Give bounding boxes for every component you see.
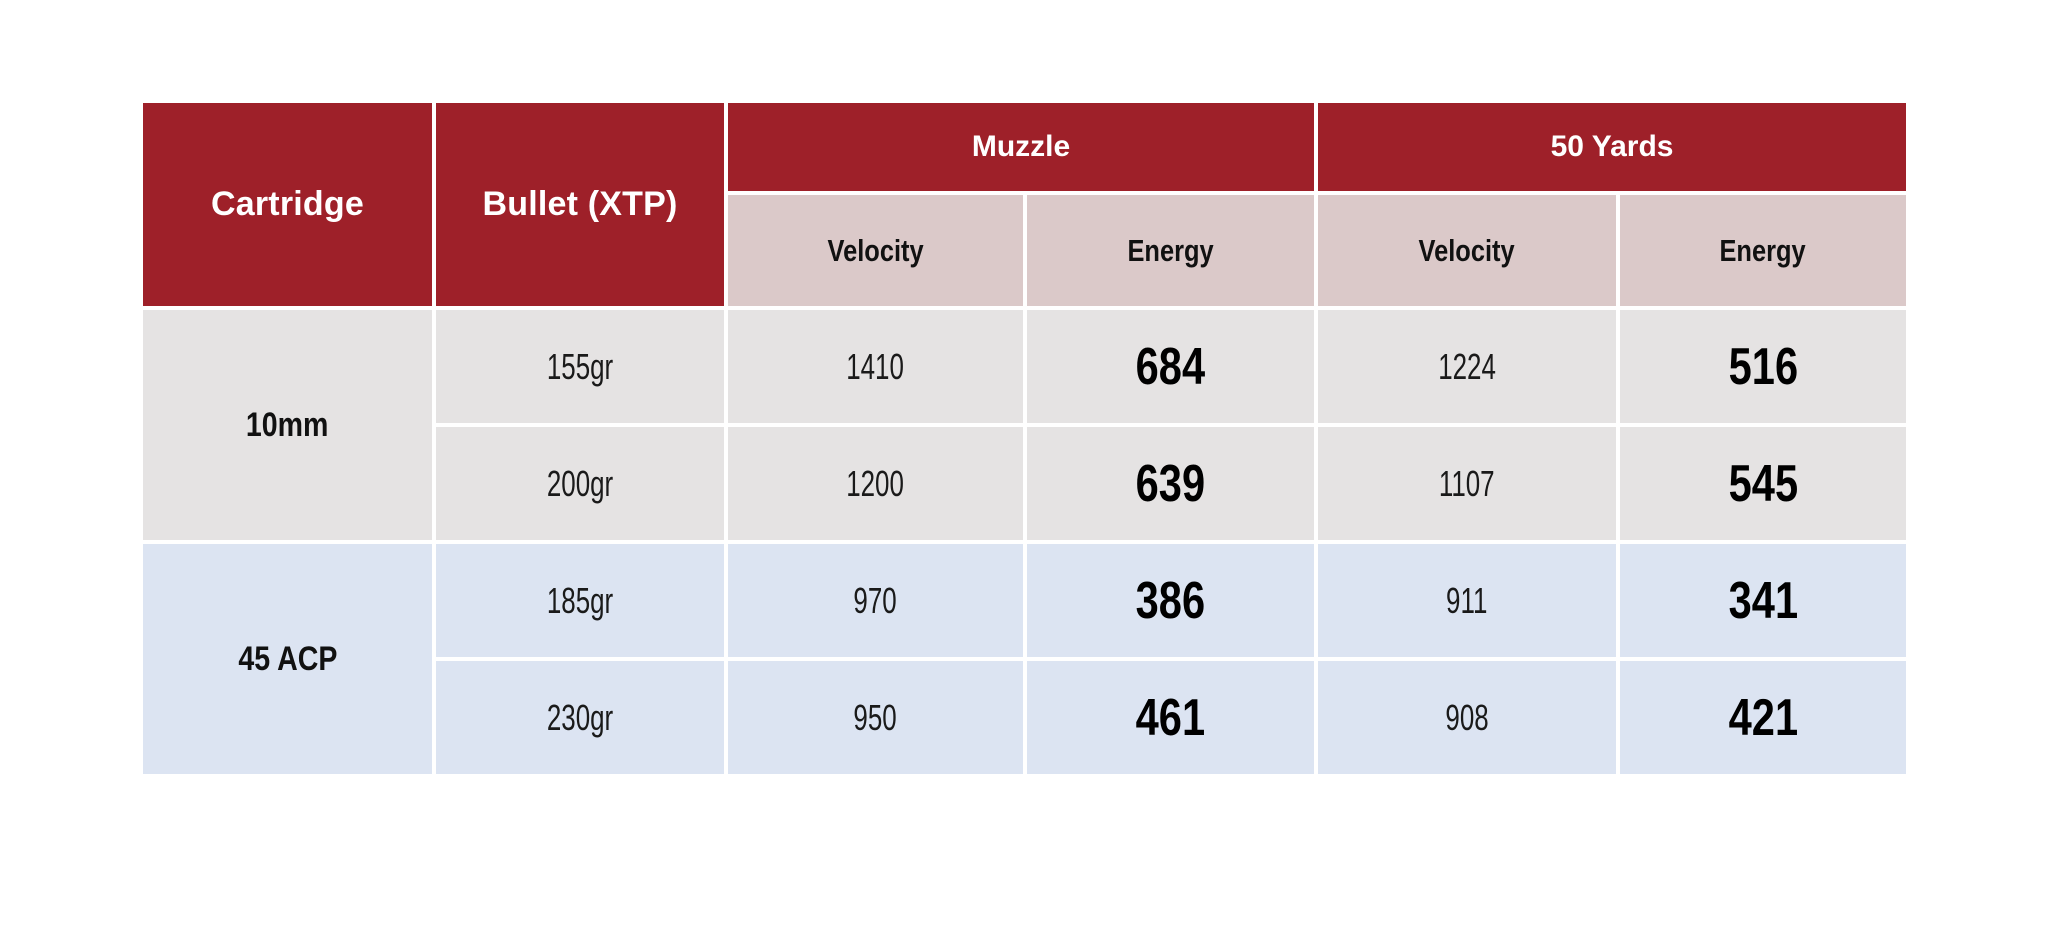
header-50yards-energy: Energy [1620,195,1906,306]
cartridge-label: 10mm [246,406,329,445]
yards50-energy-value: 421 [1728,692,1797,744]
muzzle-velocity-value: 970 [854,580,897,622]
header-group-muzzle-label: Muzzle [972,130,1070,163]
yards50-velocity-cell: 911 [1318,544,1616,657]
yards50-velocity-cell: 1107 [1318,427,1616,540]
yards50-energy-cell: 516 [1620,310,1906,423]
bullet-cell: 230gr [436,661,724,774]
ballistics-table: Cartridge Bullet (XTP) Muzzle 50 Yards V… [139,99,1910,778]
header-group-50yards: 50 Yards [1318,103,1906,191]
yards50-energy-cell: 545 [1620,427,1906,540]
header-cartridge: Cartridge [143,103,432,306]
muzzle-energy-value: 386 [1136,575,1205,627]
header-group-muzzle: Muzzle [728,103,1314,191]
yards50-velocity-cell: 908 [1318,661,1616,774]
bullet-weight-value: 185gr [547,580,613,622]
yards50-velocity-value: 911 [1446,580,1487,622]
muzzle-velocity-cell: 950 [728,661,1023,774]
header-bullet: Bullet (XTP) [436,103,724,306]
ballistics-table-container: Cartridge Bullet (XTP) Muzzle 50 Yards V… [143,103,1906,760]
yards50-velocity-value: 908 [1445,697,1488,739]
muzzle-velocity-cell: 1410 [728,310,1023,423]
muzzle-energy-cell: 684 [1027,310,1314,423]
header-50yards-energy-label: Energy [1720,233,1806,269]
muzzle-velocity-value: 1200 [847,463,905,505]
yards50-energy-value: 516 [1728,341,1797,393]
yards50-energy-value: 545 [1728,458,1797,510]
header-muzzle-energy: Energy [1027,195,1314,306]
yards50-energy-cell: 421 [1620,661,1906,774]
yards50-velocity-cell: 1224 [1318,310,1616,423]
muzzle-velocity-cell: 970 [728,544,1023,657]
bullet-weight-value: 155gr [547,346,613,388]
header-bullet-label: Bullet (XTP) [482,185,677,223]
yards50-velocity-value: 1224 [1438,346,1496,388]
muzzle-energy-value: 639 [1136,458,1205,510]
bullet-weight-value: 230gr [547,697,613,739]
yards50-velocity-value: 1107 [1439,463,1495,505]
header-muzzle-velocity-label: Velocity [827,233,923,269]
muzzle-energy-cell: 386 [1027,544,1314,657]
header-cartridge-label: Cartridge [211,185,364,223]
table-row: 10mm 155gr 1410 684 1224 516 [143,310,1906,423]
muzzle-energy-value: 684 [1136,341,1205,393]
muzzle-energy-cell: 461 [1027,661,1314,774]
yards50-energy-value: 341 [1728,575,1797,627]
table-row: 45 ACP 185gr 970 386 911 341 [143,544,1906,657]
muzzle-velocity-cell: 1200 [728,427,1023,540]
muzzle-energy-value: 461 [1136,692,1205,744]
cartridge-cell-45acp: 45 ACP [143,544,432,774]
muzzle-velocity-value: 1410 [847,346,905,388]
muzzle-velocity-value: 950 [854,697,897,739]
header-muzzle-energy-label: Energy [1127,233,1213,269]
bullet-weight-value: 200gr [547,463,613,505]
yards50-energy-cell: 341 [1620,544,1906,657]
header-50yards-velocity: Velocity [1318,195,1616,306]
bullet-cell: 155gr [436,310,724,423]
bullet-cell: 200gr [436,427,724,540]
bullet-cell: 185gr [436,544,724,657]
header-row-groups: Cartridge Bullet (XTP) Muzzle 50 Yards [143,103,1906,191]
header-50yards-velocity-label: Velocity [1419,233,1515,269]
muzzle-energy-cell: 639 [1027,427,1314,540]
cartridge-cell-10mm: 10mm [143,310,432,540]
cartridge-label: 45 ACP [238,640,337,679]
header-muzzle-velocity: Velocity [728,195,1023,306]
header-group-50yards-label: 50 Yards [1551,130,1674,163]
